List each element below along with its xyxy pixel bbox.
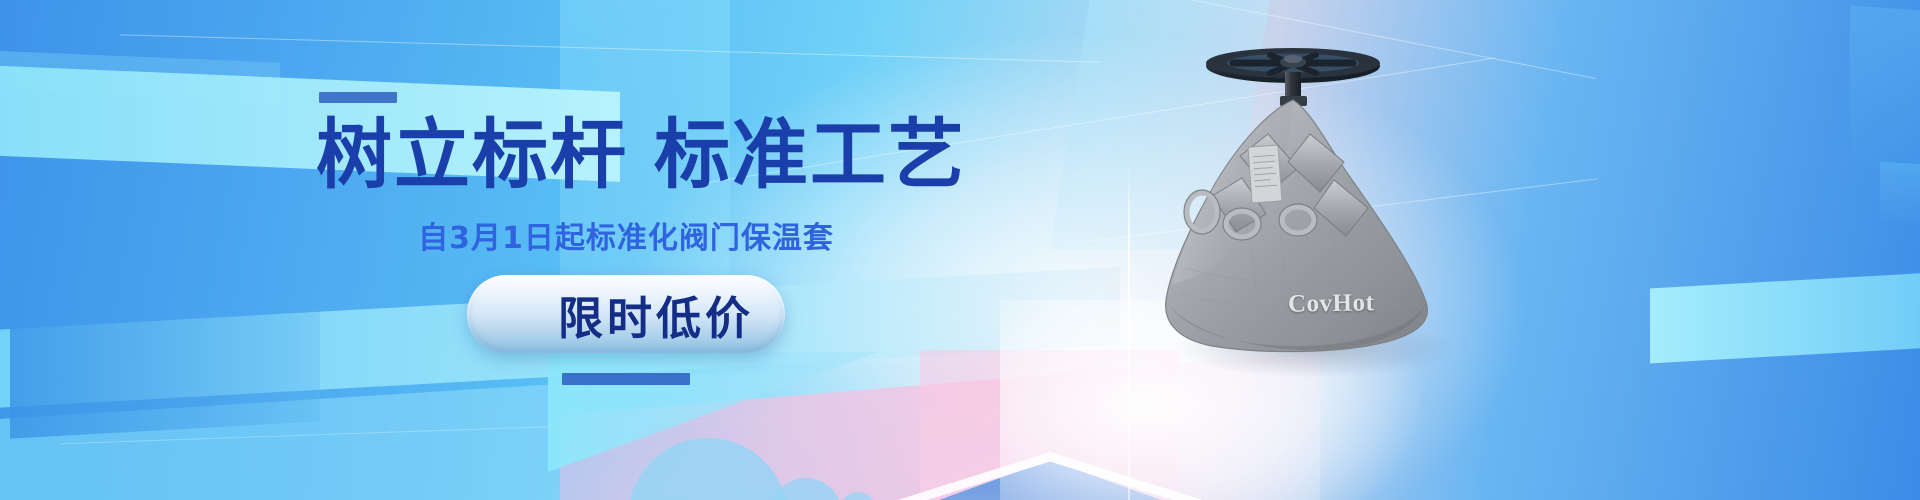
page-title: 树立标杆标准工艺 bbox=[316, 117, 936, 193]
accent-dash bbox=[319, 92, 397, 103]
cta-label: 限时低价 bbox=[558, 282, 754, 347]
product-image: CovHot bbox=[1120, 28, 1500, 398]
cta-underline-bar bbox=[562, 373, 690, 385]
decor-band-right-small bbox=[1880, 162, 1920, 229]
subtitle: 自3月1日起标准化阀门保温套 bbox=[316, 213, 936, 257]
cta-wrapper: 限时低价 bbox=[316, 275, 936, 353]
headline-part-1: 树立标杆 bbox=[316, 110, 628, 199]
valve-stem bbox=[1285, 72, 1301, 100]
copy-block: 树立标杆标准工艺 自3月1日起标准化阀门保温套 限时低价 bbox=[316, 92, 936, 385]
decor-rect-lower-left bbox=[10, 311, 320, 438]
promo-banner: 树立标杆标准工艺 自3月1日起标准化阀门保温套 限时低价 bbox=[0, 0, 1920, 500]
headline-part-2: 标准工艺 bbox=[654, 110, 966, 199]
valve-jacket-illustration bbox=[1120, 28, 1500, 398]
limited-time-offer-button[interactable]: 限时低价 bbox=[467, 275, 785, 353]
decor-band-right-cyan bbox=[1650, 272, 1920, 364]
product-label-tag bbox=[1248, 145, 1282, 203]
decor-band-top-right bbox=[1850, 5, 1920, 174]
product-brand-logo: CovHot bbox=[1288, 289, 1375, 319]
